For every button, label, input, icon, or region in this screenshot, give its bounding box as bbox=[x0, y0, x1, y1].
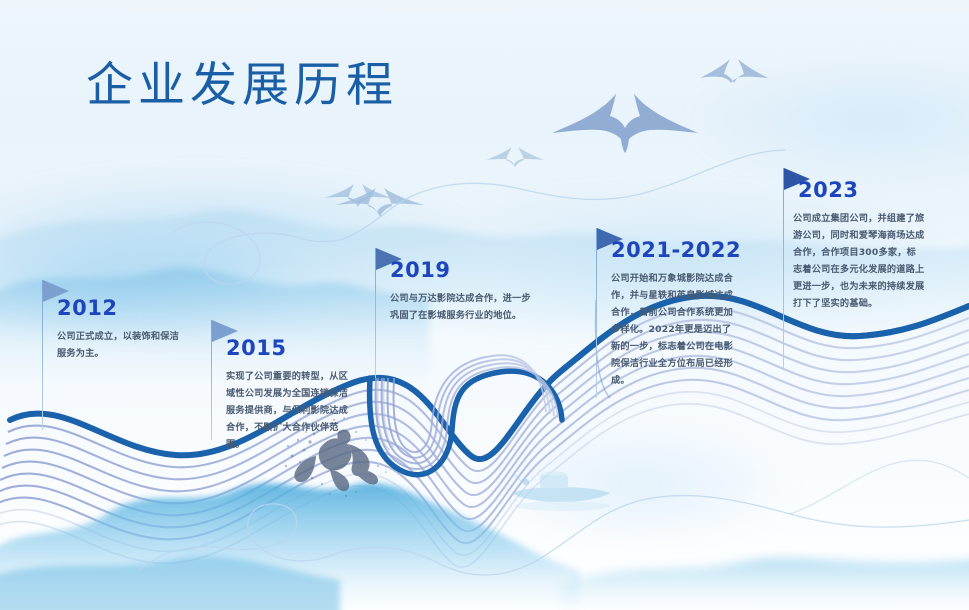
flag-marker-2023 bbox=[783, 168, 784, 368]
milestone-year: 2012 bbox=[57, 296, 117, 320]
milestone-2021-2022[interactable]: 2021-2022 公司开始和万象城影院达成合作，并与星轶和英皇影城达成合作，目… bbox=[596, 228, 776, 398]
milestone-text: 公司开始和万象城影院达成合作，并与星轶和英皇影城达成合作，目前公司合作系统更加多… bbox=[611, 270, 739, 389]
seagull-icon-upper-right bbox=[700, 59, 768, 83]
page-title: 企业发展历程 bbox=[86, 60, 398, 112]
milestone-2019[interactable]: 2019 公司与万达影院达成合作，进一步巩固了在影城服务行业的地位。 bbox=[375, 248, 545, 378]
flag-marker-2012 bbox=[42, 280, 43, 430]
flag-pole bbox=[596, 228, 597, 398]
sky-wash-5 bbox=[430, 400, 850, 570]
poster-canvas: 企业发展历程 2012 公司正式成立，以装饰和保洁服务为主。 2015 实现了公… bbox=[0, 0, 969, 610]
near-mountain-left bbox=[0, 483, 580, 610]
fisherman-boat-silhouette bbox=[512, 471, 610, 511]
milestone-2015[interactable]: 2015 实现了公司重要的转型，从区域性公司发展为全国连锁保洁服务提供商，与保利… bbox=[211, 320, 381, 440]
near-mountain-right bbox=[560, 558, 969, 610]
near-mountain-deep bbox=[0, 557, 340, 610]
milestone-year: 2015 bbox=[226, 336, 286, 360]
flag-marker-2021-2022 bbox=[596, 228, 597, 398]
milestone-2023[interactable]: 2023 公司成立集团公司，并组建了旅游公司，同时和爱琴海商场达成合作，合作项目… bbox=[783, 168, 963, 368]
milestone-year: 2023 bbox=[798, 178, 858, 202]
milestone-text: 实现了公司重要的转型，从区域性公司发展为全国连锁保洁服务提供商，与保利影院达成合… bbox=[226, 368, 352, 453]
flag-pole bbox=[783, 168, 784, 368]
seagull-icon-mid-left bbox=[336, 188, 424, 217]
milestone-year: 2019 bbox=[390, 258, 450, 282]
milestone-text: 公司与万达影院达成合作，进一步巩固了在影城服务行业的地位。 bbox=[390, 290, 536, 324]
milestone-text: 公司正式成立，以装饰和保洁服务为主。 bbox=[57, 328, 181, 362]
seagull-icon-small-center bbox=[486, 147, 544, 167]
milestone-year: 2021-2022 bbox=[611, 238, 741, 262]
flag-marker-2015 bbox=[211, 320, 212, 440]
milestone-2012[interactable]: 2012 公司正式成立，以装饰和保洁服务为主。 bbox=[42, 280, 202, 430]
milestone-text: 公司成立集团公司，并组建了旅游公司，同时和爱琴海商场达成合作，合作项目300多家… bbox=[793, 210, 925, 312]
seagull-icon-lower-left bbox=[324, 184, 392, 207]
seagull-icon-large bbox=[552, 94, 698, 153]
flag-pole bbox=[42, 280, 43, 430]
flag-marker-2019 bbox=[375, 248, 376, 378]
